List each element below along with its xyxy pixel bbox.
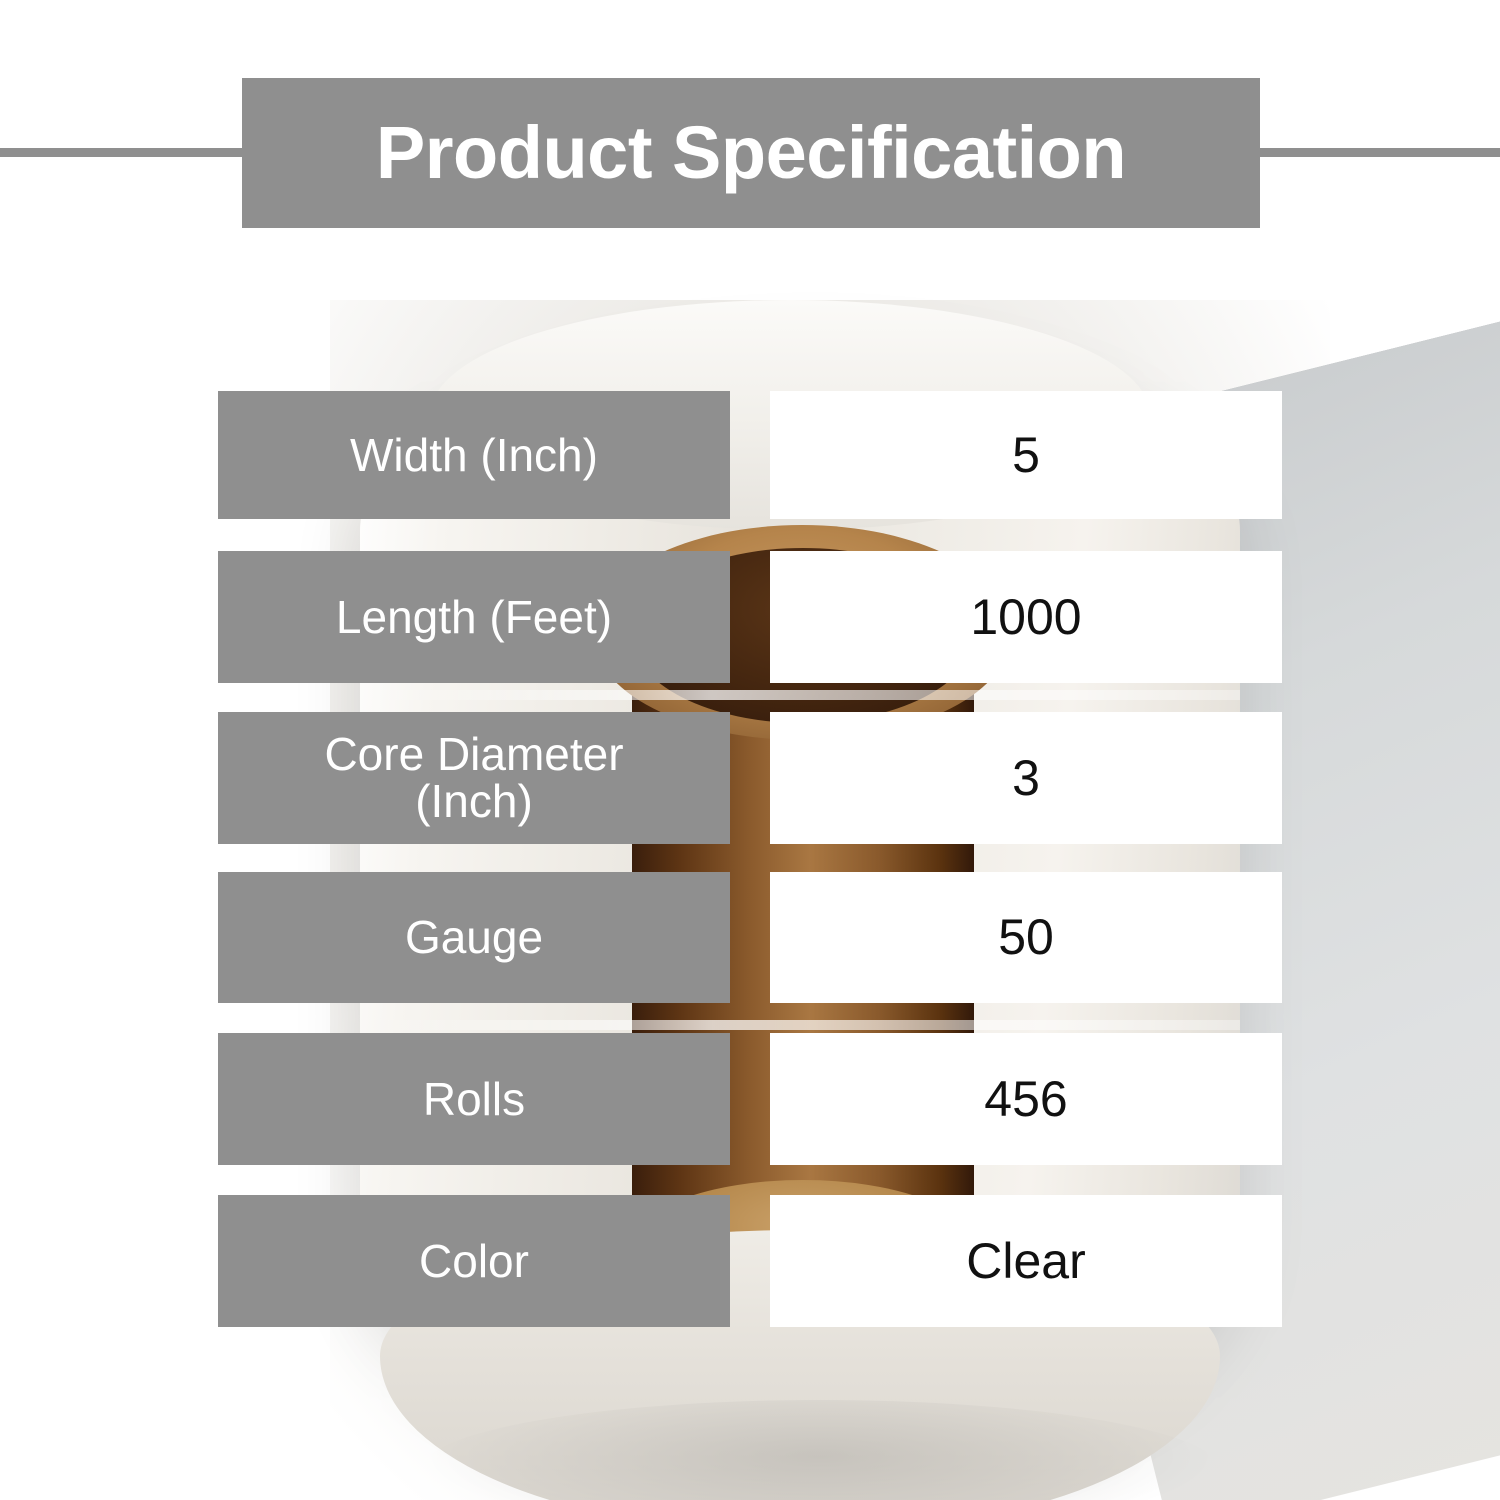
spec-label-core-diameter: Core Diameter (Inch) xyxy=(218,712,730,844)
header-rule-right xyxy=(1245,148,1500,157)
page-title: Product Specification xyxy=(376,116,1126,190)
header-band: Product Specification xyxy=(242,78,1260,228)
photo-film-edge-band xyxy=(360,1020,1240,1030)
spec-label-length: Length (Feet) xyxy=(218,551,730,683)
spec-value-rolls: 456 xyxy=(770,1033,1282,1165)
spec-label-width: Width (Inch) xyxy=(218,391,730,519)
spec-value-color: Clear xyxy=(770,1195,1282,1327)
product-specification-card: Product Specification Width (Inch) 5 Len… xyxy=(0,0,1500,1500)
header-rule-left xyxy=(0,148,260,157)
spec-value-width: 5 xyxy=(770,391,1282,519)
spec-label-rolls: Rolls xyxy=(218,1033,730,1165)
spec-value-length: 1000 xyxy=(770,551,1282,683)
spec-label-color: Color xyxy=(218,1195,730,1327)
spec-value-gauge: 50 xyxy=(770,872,1282,1003)
spec-value-core-diameter: 3 xyxy=(770,712,1282,844)
spec-label-gauge: Gauge xyxy=(218,872,730,1003)
photo-film-edge-band xyxy=(360,690,1240,700)
